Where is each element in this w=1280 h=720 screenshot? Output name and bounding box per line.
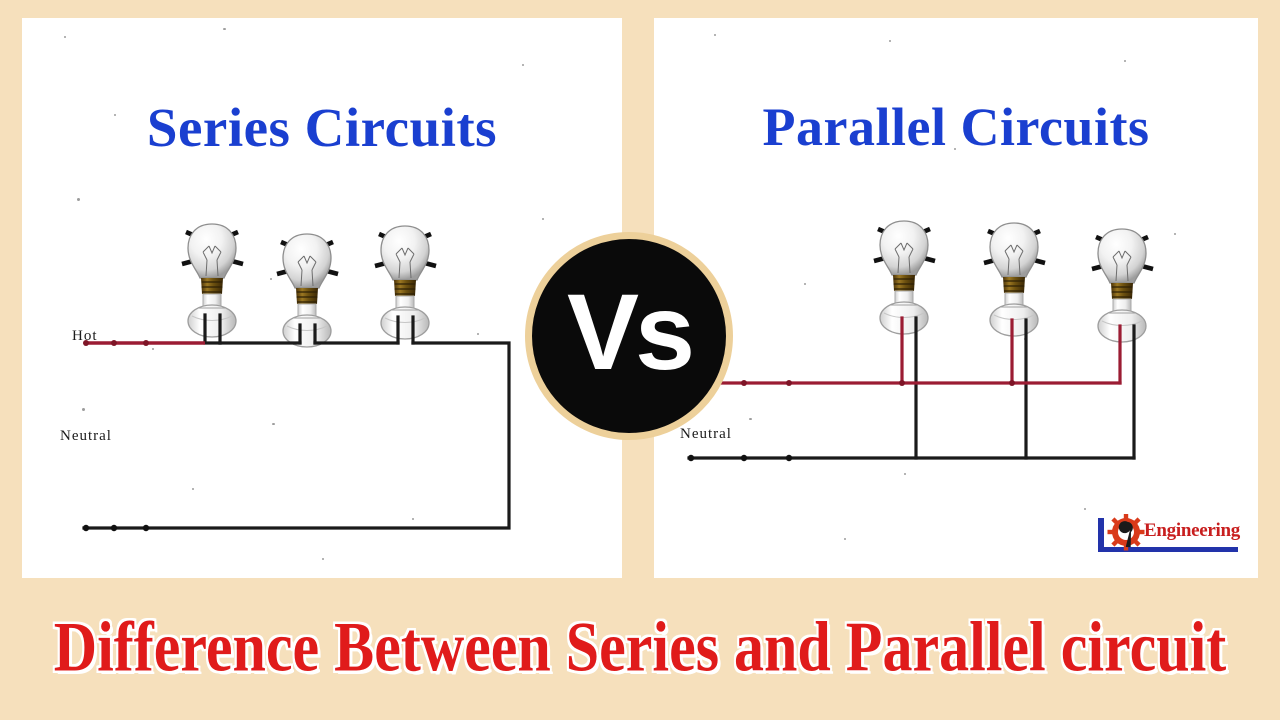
brand-logo[interactable]: Engineering (1096, 514, 1240, 560)
logo-text: Engineering (1144, 520, 1240, 542)
series-neutral-label: Neutral (60, 428, 112, 445)
parallel-neutral-wires (689, 318, 1134, 458)
poster-canvas: Series Circuits (0, 0, 1280, 720)
series-wire-black (84, 315, 509, 528)
series-panel-title: Series Circuits (22, 96, 622, 159)
series-hot-label: Hot (72, 328, 98, 345)
series-hot-rail (83, 340, 205, 346)
vs-badge: Vs (525, 232, 733, 440)
poster-caption: Difference Between Series and Parallel c… (0, 582, 1280, 712)
parallel-rail-dots (688, 380, 1015, 461)
panel-parallel-circuits: Parallel Circuits (654, 18, 1258, 578)
vs-label: Vs (567, 278, 691, 386)
parallel-panel-title: Parallel Circuits (654, 96, 1258, 158)
parallel-neutral-label: Neutral (680, 426, 732, 443)
